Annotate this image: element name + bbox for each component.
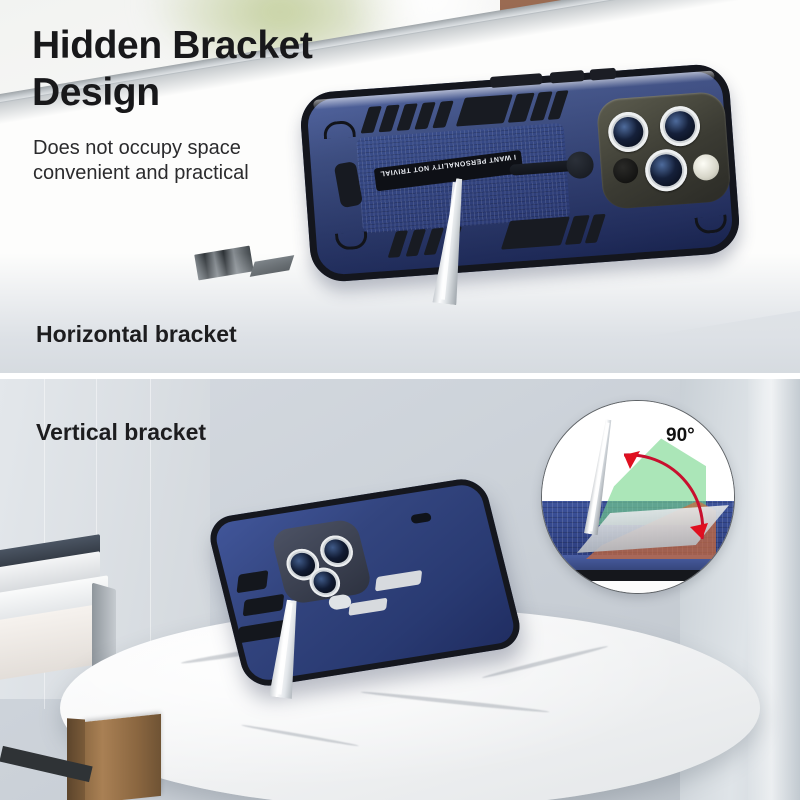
wooden-post: [83, 714, 161, 800]
phone-case-horizontal: I WANT PERSONALITY NOT TRIVIAL: [299, 63, 742, 284]
angle-label: 90°: [666, 425, 695, 447]
marble-vein: [241, 724, 360, 748]
marble-vein: [360, 690, 549, 714]
camera-module: [596, 91, 732, 210]
camera-module: [270, 518, 374, 605]
headline-line-1: Hidden Bracket: [32, 22, 312, 69]
subhead-line-2: convenient and practical: [33, 161, 249, 186]
page-subtitle: Does not occupy space convenient and pra…: [33, 136, 249, 186]
camera-lens-2: [659, 105, 702, 148]
case-vent-lower: [501, 216, 570, 249]
lidar-sensor: [612, 157, 639, 184]
caption-vertical-bracket: Vertical bracket: [36, 419, 206, 446]
button-cutout-3: [590, 68, 617, 81]
product-infographic: I WANT PERSONALITY NOT TRIVIAL: [0, 0, 800, 800]
headline-line-2: Design: [32, 69, 312, 116]
caption-horizontal-bracket: Horizontal bracket: [36, 321, 237, 348]
inset-surface: [542, 581, 734, 593]
angle-inset-diagram: 90°: [541, 400, 735, 594]
camera-lens-2: [317, 533, 356, 569]
subhead-line-1: Does not occupy space: [33, 136, 249, 161]
camera-lens-1: [607, 111, 650, 154]
page-title: Hidden Bracket Design: [32, 22, 312, 116]
camera-lens-3: [644, 148, 689, 193]
top-panel: I WANT PERSONALITY NOT TRIVIAL: [0, 0, 800, 373]
flash-icon: [692, 153, 720, 181]
curtain: [748, 379, 800, 800]
marble-vein: [481, 644, 608, 679]
